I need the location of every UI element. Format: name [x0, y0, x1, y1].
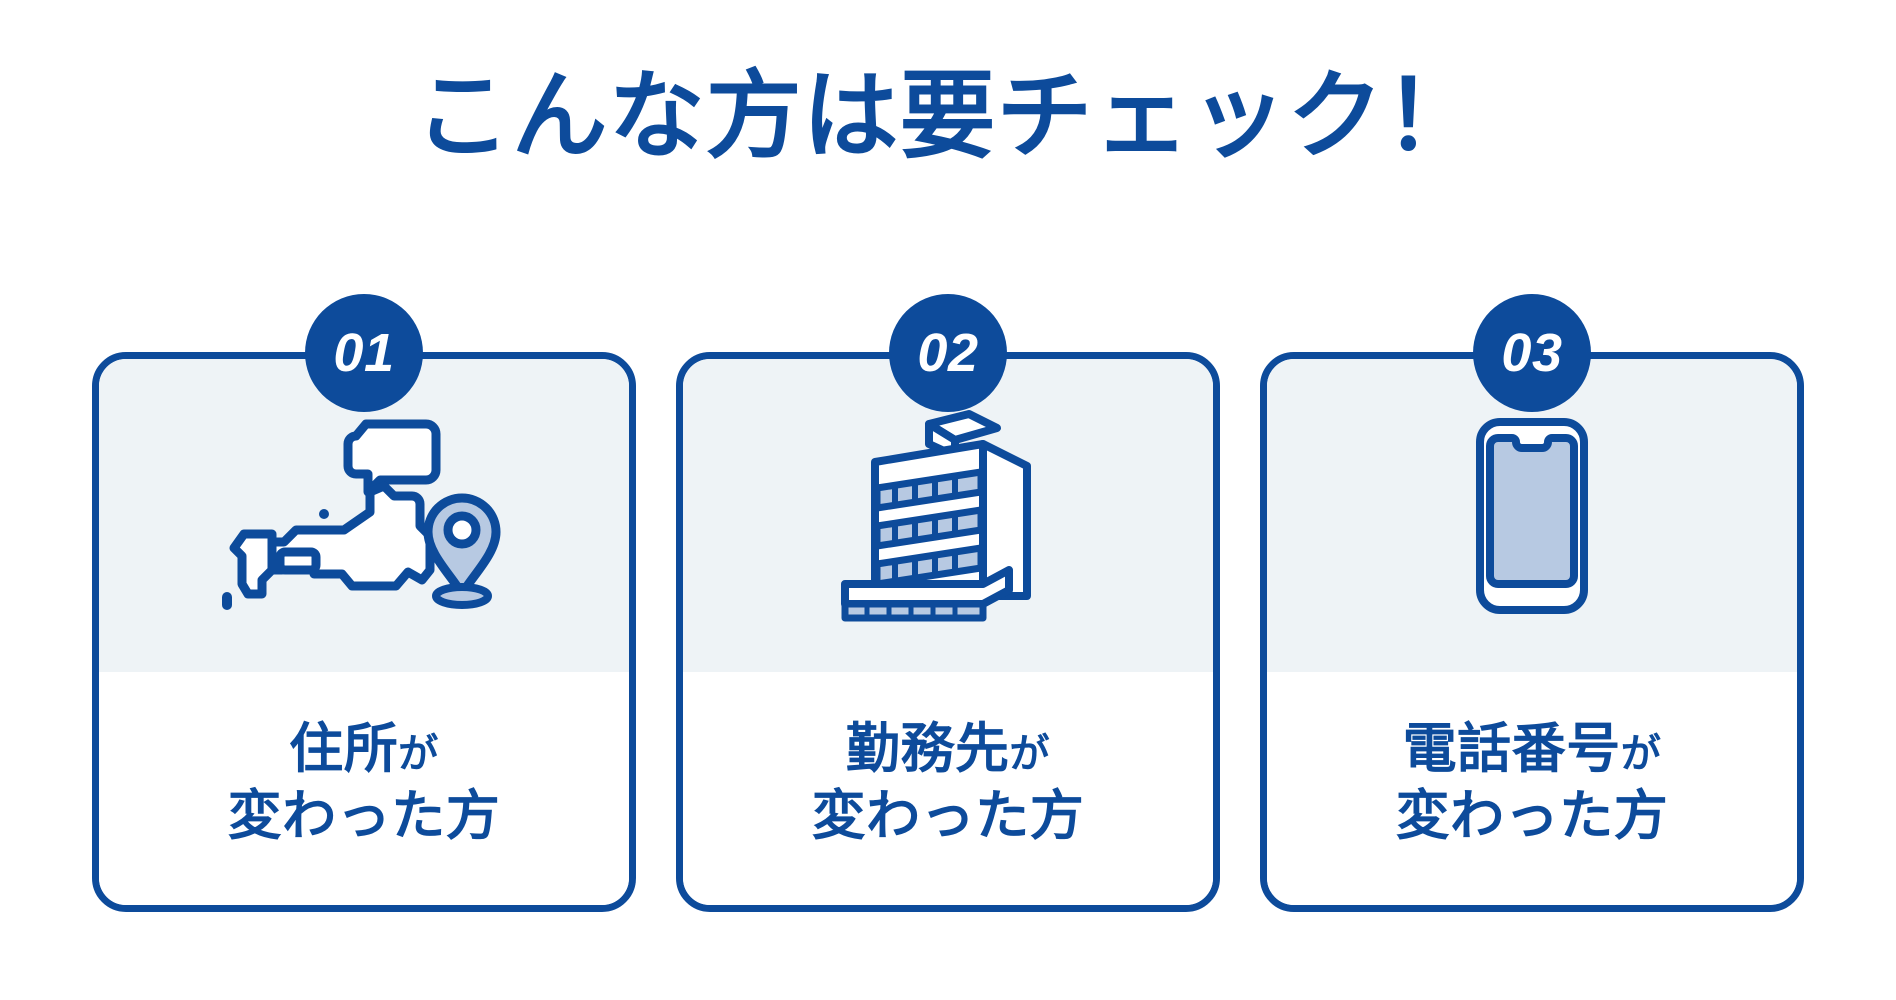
card-number-badge: 01 [305, 294, 423, 412]
card-number-badge: 03 [1473, 294, 1591, 412]
card-body: 住所が 変わった方 [99, 359, 629, 905]
card-body: 勤務先が 変わった方 [683, 359, 1213, 905]
card-label-line1: 勤務先が [846, 716, 1050, 783]
card-number-badge: 02 [889, 294, 1007, 412]
office-building-icon [833, 408, 1063, 623]
card-label-particle: が [1621, 732, 1662, 776]
card-label-subject: 電話番号 [1403, 719, 1621, 779]
japan-map-with-location-pin-icon [214, 406, 514, 626]
card-text-area: 電話番号が 変わった方 [1267, 672, 1797, 905]
card-icon-area-wrap: 電話番号が 変わった方 [1267, 359, 1797, 905]
card-item-address[interactable]: 01 [92, 352, 636, 912]
card-item-workplace[interactable]: 02 [676, 352, 1220, 912]
card-label-line1: 電話番号が [1403, 716, 1662, 783]
card-text-area: 住所が 変わった方 [99, 672, 629, 905]
card-item-phone[interactable]: 03 電話番号が 変わった方 [1260, 352, 1804, 912]
card-label-subject: 勤務先 [846, 719, 1010, 779]
card-label-line2: 変わった方 [228, 783, 501, 850]
card-label-particle: が [398, 732, 439, 776]
card-label-subject: 住所 [289, 719, 398, 779]
promo-banner: こんな方は要チェック！ 01 [0, 0, 1896, 1000]
card-label-line2: 変わった方 [1396, 783, 1669, 850]
smartphone-icon [1472, 416, 1592, 616]
page-title: こんな方は要チェック！ [0, 62, 1896, 172]
card-label-line2: 変わった方 [812, 783, 1085, 850]
card-label-line1: 住所が [289, 716, 439, 783]
card-label-particle: が [1010, 732, 1051, 776]
card-list: 01 [92, 352, 1804, 912]
card-text-area: 勤務先が 変わった方 [683, 672, 1213, 905]
